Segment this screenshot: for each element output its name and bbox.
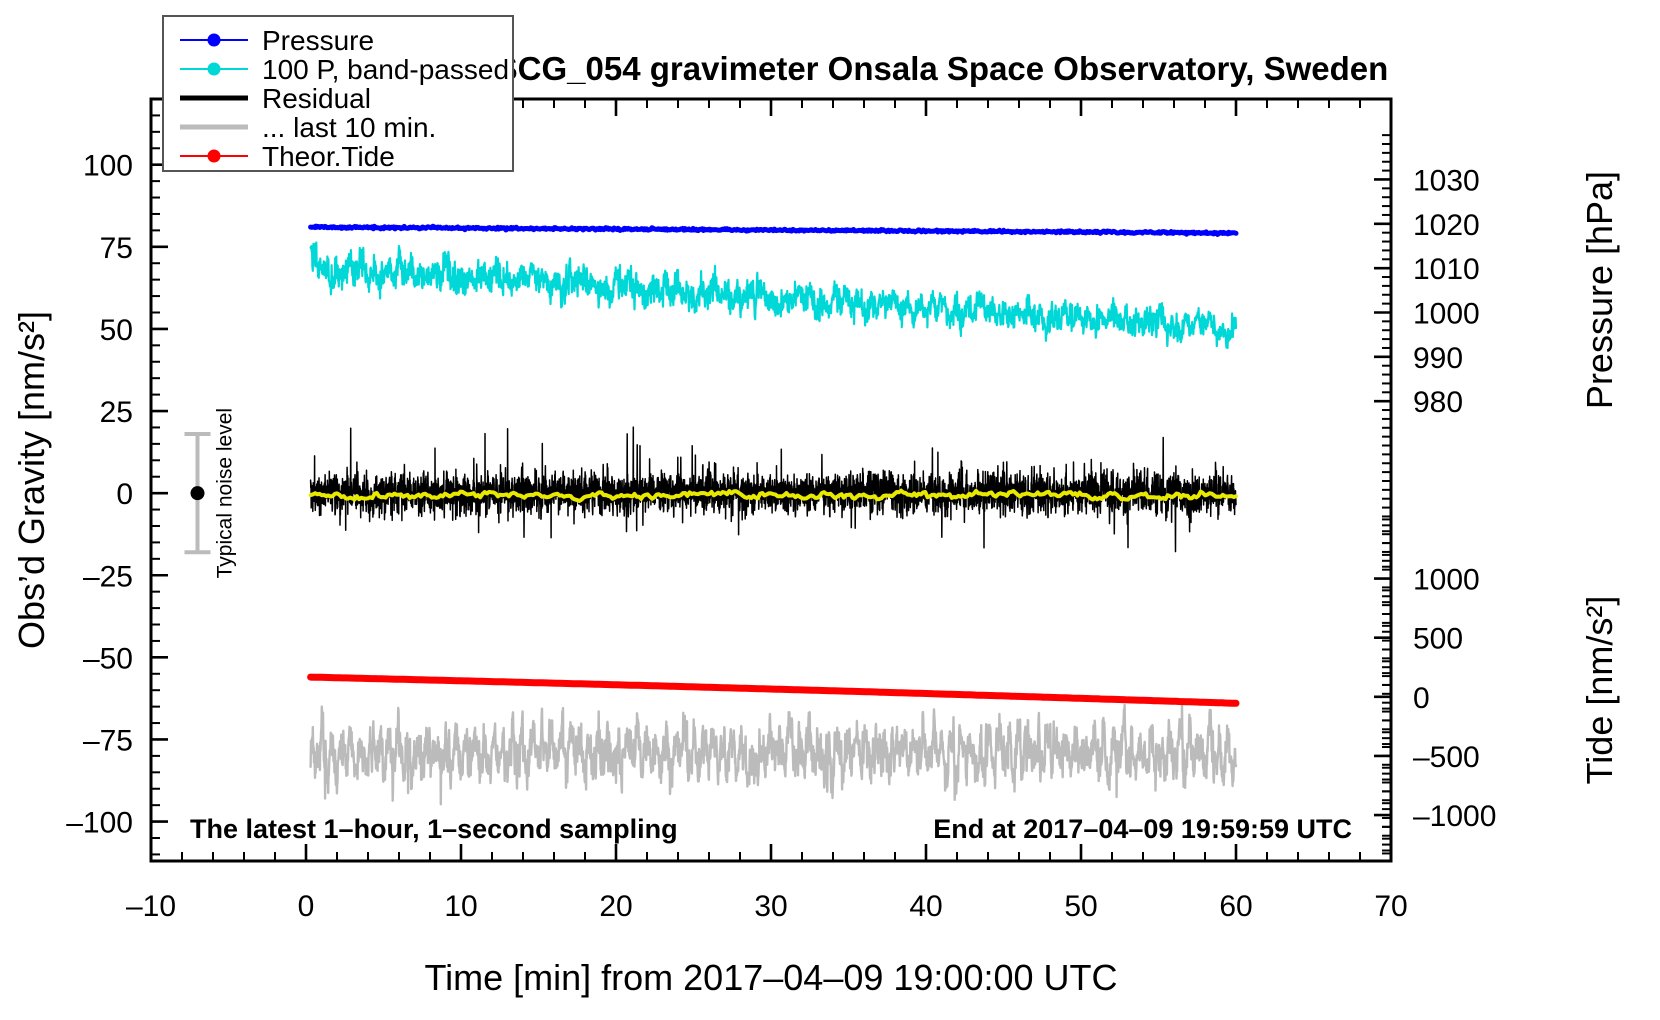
noise-bar-center-dot xyxy=(191,486,205,500)
y-left-tick-label: –75 xyxy=(83,724,133,757)
x-tick-label: 0 xyxy=(298,890,315,923)
y-left-tick-label: 100 xyxy=(83,150,133,183)
annotation-sampling-info: The latest 1–hour, 1–second sampling xyxy=(190,814,678,844)
y-left-axis-title: Obs’d Gravity [nm/s²] xyxy=(11,311,52,649)
y-right-tide-axis-title: Tide [nm/s²] xyxy=(1579,596,1620,785)
noise-level-label: Typical noise level xyxy=(214,408,237,578)
y-left-tick-label: 50 xyxy=(100,314,133,347)
x-tick-label: 30 xyxy=(754,890,787,923)
y-left-tick-label: 25 xyxy=(100,396,133,429)
legend-marker-dot-1 xyxy=(208,34,221,47)
y-right-tide-tick-label: 0 xyxy=(1413,682,1430,715)
x-tick-label: 20 xyxy=(599,890,632,923)
y-right-pressure-tick-label: 1030 xyxy=(1413,164,1480,197)
y-right-tide-tick-label: –1000 xyxy=(1413,800,1496,833)
y-right-tide-tick-label: –500 xyxy=(1413,741,1480,774)
y-right-pressure-axis-title: Pressure [hPa] xyxy=(1579,171,1620,409)
legend-marker-dot-5 xyxy=(208,150,221,163)
legend-label-2[interactable]: 100 P, band-passed xyxy=(262,54,509,85)
x-tick-label: –10 xyxy=(126,890,176,923)
x-tick-label: 60 xyxy=(1219,890,1252,923)
y-right-pressure-tick-label: 1020 xyxy=(1413,209,1480,242)
x-tick-label: 40 xyxy=(909,890,942,923)
gravimeter-chart-figure: –10010203040506070 1007550250–25–50–75–1… xyxy=(0,0,1660,1020)
x-axis-title: Time [min] from 2017–04–09 19:00:00 UTC xyxy=(424,957,1117,998)
legend-label-4[interactable]: ... last 10 min. xyxy=(262,112,436,143)
annotation-end-time: End at 2017–04–09 19:59:59 UTC xyxy=(933,814,1352,844)
y-right-pressure-tick-label: 980 xyxy=(1413,386,1463,419)
x-tick-label: 50 xyxy=(1064,890,1097,923)
y-left-tick-label: –50 xyxy=(83,642,133,675)
y-right-pressure-tick-label: 990 xyxy=(1413,342,1463,375)
y-left-tick-label: –100 xyxy=(66,807,133,840)
page-title: SCG_054 gravimeter Onsala Space Observat… xyxy=(496,50,1389,87)
y-right-tide-tick-label: 1000 xyxy=(1413,564,1480,597)
legend-label-5[interactable]: Theor.Tide xyxy=(262,141,395,172)
legend-label-3[interactable]: Residual xyxy=(262,83,371,114)
y-right-tide-tick-label: 500 xyxy=(1413,623,1463,656)
legend-label-1[interactable]: Pressure xyxy=(262,25,374,56)
y-left-tick-label: –25 xyxy=(83,560,133,593)
x-tick-label: 10 xyxy=(444,890,477,923)
y-left-tick-label: 0 xyxy=(116,478,133,511)
legend-marker-dot-2 xyxy=(208,63,221,76)
chart-canvas: –10010203040506070 1007550250–25–50–75–1… xyxy=(0,0,1660,1020)
x-tick-label: 70 xyxy=(1374,890,1407,923)
y-right-pressure-tick-label: 1000 xyxy=(1413,297,1480,330)
legend[interactable]: Pressure100 P, band-passedResidual... la… xyxy=(163,16,513,172)
y-left-tick-label: 75 xyxy=(100,232,133,265)
y-right-pressure-tick-label: 1010 xyxy=(1413,253,1480,286)
